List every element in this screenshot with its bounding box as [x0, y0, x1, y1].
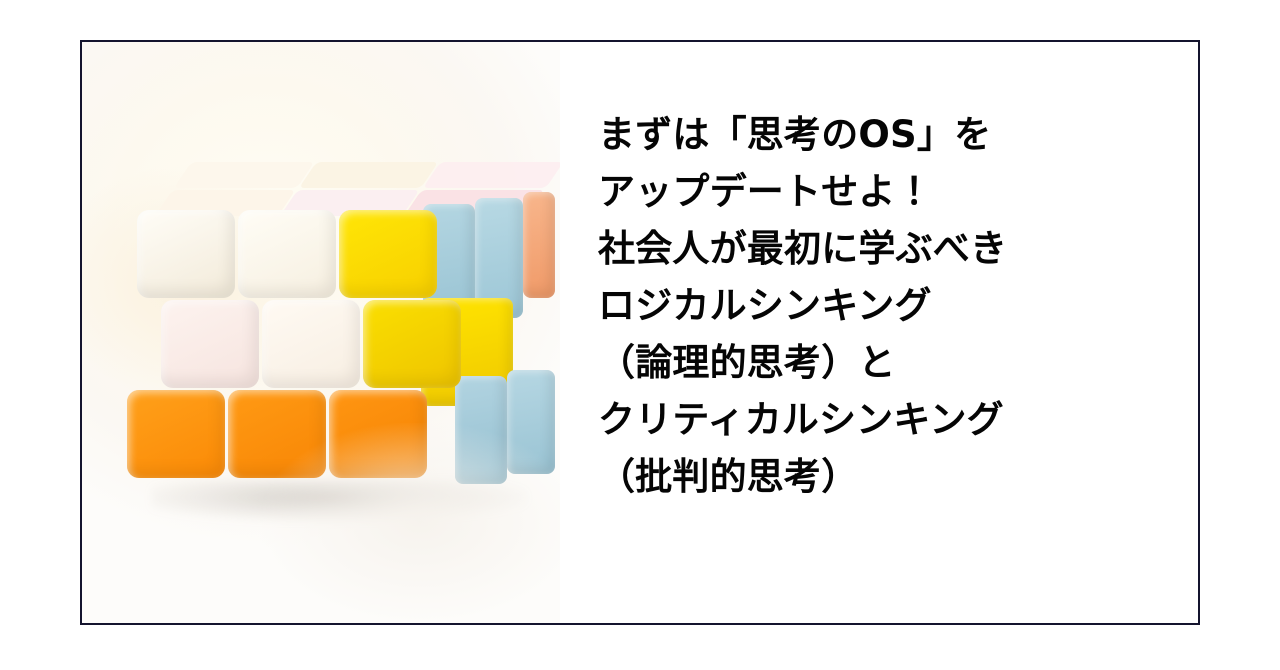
cube-sticker [228, 390, 326, 478]
cube-front-face [127, 210, 427, 478]
cube-sticker [127, 390, 225, 478]
cube-sticker [329, 390, 427, 478]
cube-sticker [238, 210, 336, 298]
cube-row-top [137, 210, 437, 298]
headline-line: アップデートせよ！ [598, 163, 1198, 220]
headline-line: （批判的思考） [598, 448, 1198, 505]
headline-line: クリティカルシンキング [598, 391, 1198, 448]
cube-sticker [161, 300, 259, 388]
rubiks-cube-photo [82, 42, 560, 623]
cube-side-sticker [455, 376, 507, 484]
cube-side-sticker [507, 370, 555, 474]
headline-line: 社会人が最初に学ぶべき [598, 220, 1198, 277]
cube-sticker [363, 300, 461, 388]
cube-top-sticker [423, 162, 560, 188]
headline-line: （論理的思考）と [598, 334, 1198, 391]
cube-row-middle [161, 300, 461, 388]
cube-sticker [262, 300, 360, 388]
content-card: まずは「思考のOS」を アップデートせよ！ 社会人が最初に学ぶべき ロジカルシン… [80, 40, 1200, 625]
rubiks-cube-illustration [127, 162, 542, 512]
slide-canvas: まずは「思考のOS」を アップデートせよ！ 社会人が最初に学ぶべき ロジカルシン… [0, 0, 1280, 670]
cube-row-bottom [127, 390, 427, 478]
cube-side-sticker [523, 192, 555, 298]
cube-top-sticker [174, 162, 314, 188]
cube-top-sticker [299, 162, 439, 188]
cube-sticker [137, 210, 235, 298]
headline-line: まずは「思考のOS」を [598, 106, 1198, 163]
headline-panel: まずは「思考のOS」を アップデートせよ！ 社会人が最初に学ぶべき ロジカルシン… [560, 42, 1198, 623]
headline-line: ロジカルシンキング [598, 277, 1198, 334]
cube-sticker [339, 210, 437, 298]
headline-text: まずは「思考のOS」を アップデートせよ！ 社会人が最初に学ぶべき ロジカルシン… [598, 106, 1198, 505]
